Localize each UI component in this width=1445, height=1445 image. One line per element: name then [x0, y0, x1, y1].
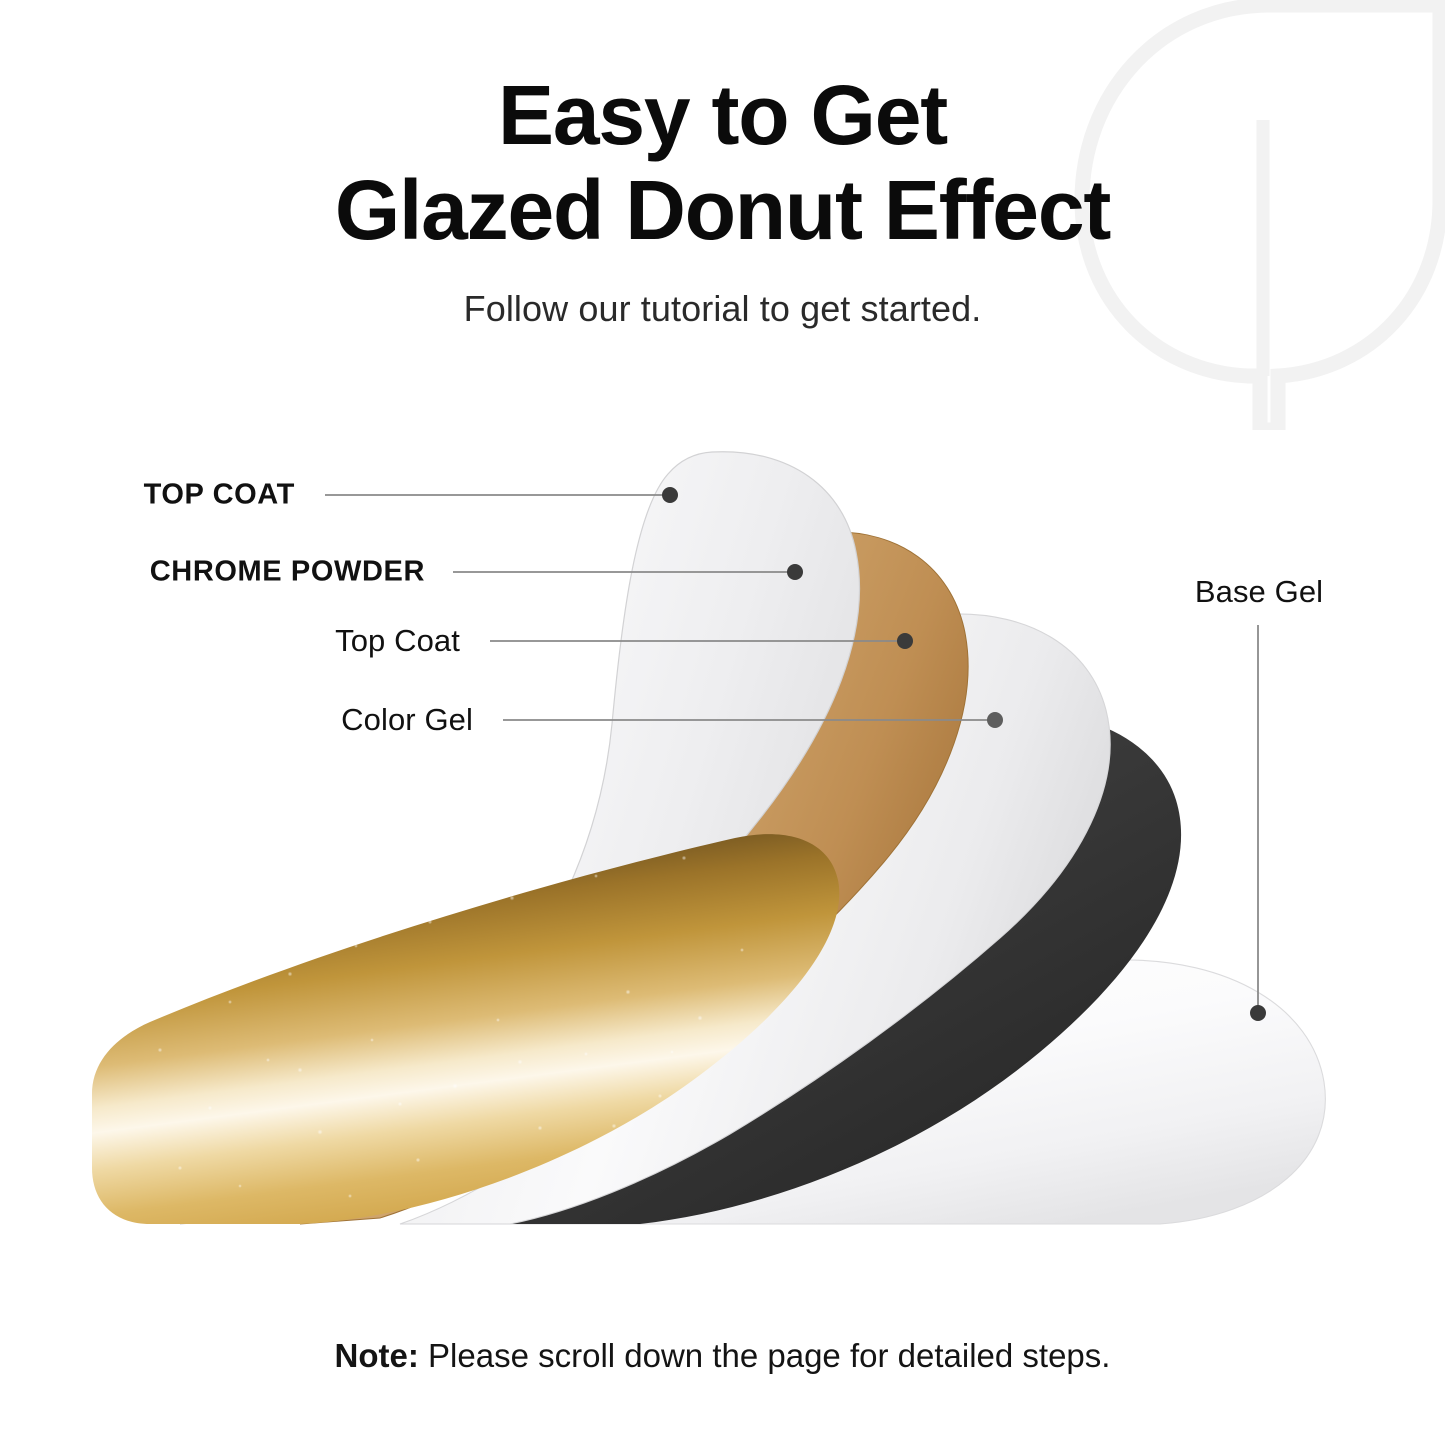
- callout-label-base-gel: Base Gel: [1195, 574, 1323, 610]
- dot-base-gel: [1250, 1005, 1266, 1021]
- title-line-1: Easy to Get: [0, 68, 1445, 163]
- dot-color-gel: [987, 712, 1003, 728]
- callout-label-top-coat-inner: Top Coat: [335, 623, 460, 659]
- footer-note-text: Please scroll down the page for detailed…: [419, 1337, 1111, 1374]
- footer-note: Note: Please scroll down the page for de…: [0, 1337, 1445, 1375]
- page-subtitle: Follow our tutorial to get started.: [0, 288, 1445, 330]
- title-line-2: Glazed Donut Effect: [0, 163, 1445, 258]
- footer-note-prefix: Note:: [335, 1337, 419, 1374]
- callout-label-chrome-powder: CHROME POWDER: [150, 556, 425, 589]
- callout-label-top-coat: TOP COAT: [144, 479, 295, 512]
- page-title: Easy to Get Glazed Donut Effect: [0, 68, 1445, 258]
- dot-chrome-powder: [787, 564, 803, 580]
- dot-top-coat-2: [897, 633, 913, 649]
- dot-top-coat: [662, 487, 678, 503]
- page-root: Easy to Get Glazed Donut Effect Follow o…: [0, 0, 1445, 1445]
- callout-label-color-gel: Color Gel: [341, 702, 473, 738]
